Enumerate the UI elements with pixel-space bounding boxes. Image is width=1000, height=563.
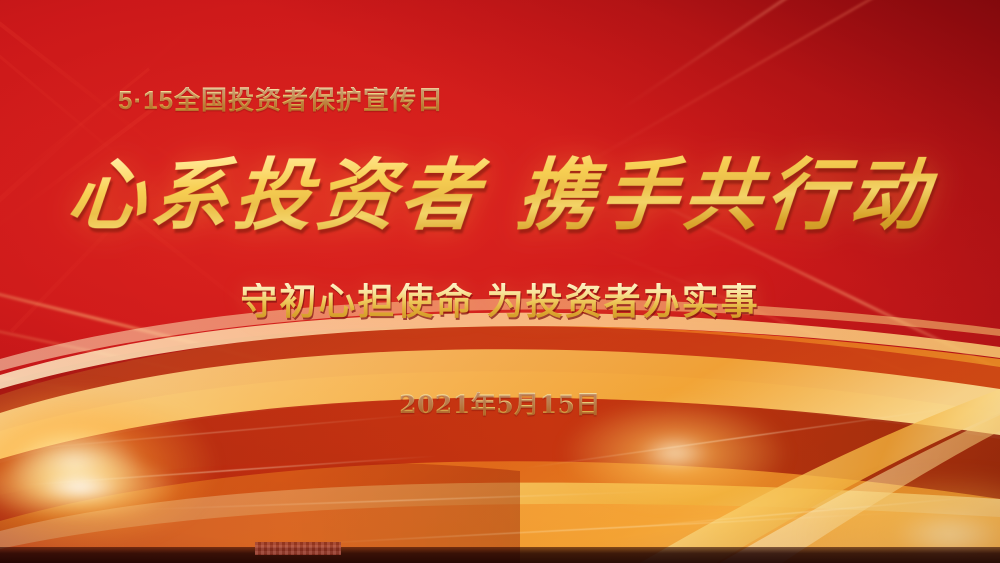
poster-date: 2021年5月15日: [0, 392, 1000, 417]
poster-canvas: 5·15全国投资者保护宣传日 心系投资者携手共行动 守初心担使命 为投资者办实事…: [0, 0, 1000, 563]
headline-phrase-2: 携手共行动: [513, 150, 936, 241]
poster-headline: 心系投资者携手共行动: [0, 152, 1000, 239]
campaign-eyebrow-text: 5·15全国投资者保护宣传日: [118, 87, 444, 113]
poster-text-content: 5·15全国投资者保护宣传日 心系投资者携手共行动 守初心担使命 为投资者办实事…: [0, 0, 1000, 563]
poster-subheadline: 守初心担使命 为投资者办实事: [0, 283, 1000, 320]
headline-phrase-1: 心系投资者: [64, 150, 487, 241]
mosaic-redaction-patch: [255, 542, 341, 555]
bottom-dark-band: [0, 547, 1000, 563]
